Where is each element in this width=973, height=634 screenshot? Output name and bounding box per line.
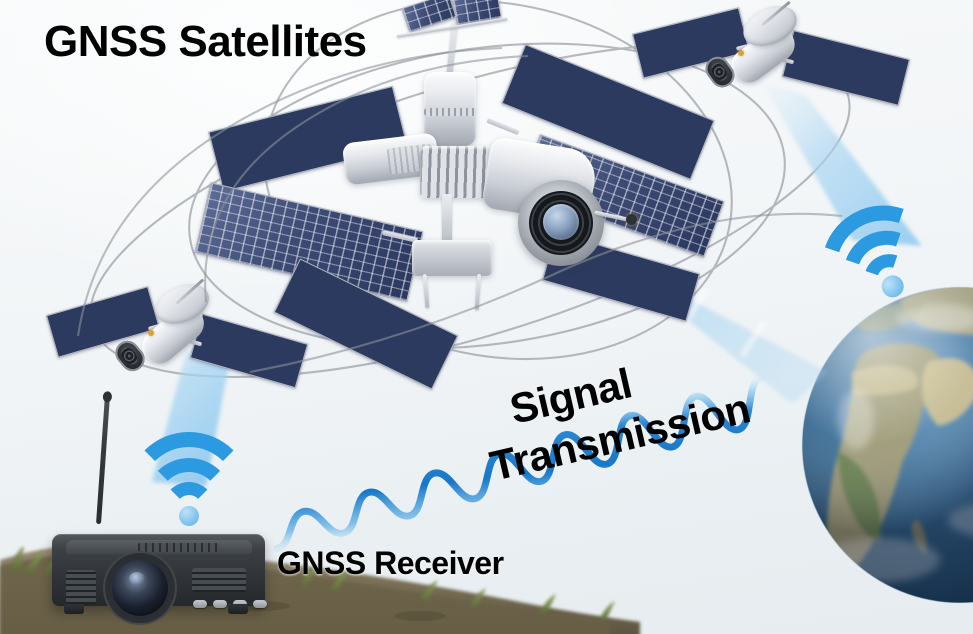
receiver-button-2[interactable] [213, 600, 227, 608]
receiver-top-panel [66, 540, 252, 554]
receiver-vent-left [66, 570, 96, 604]
receiver-foot-left [64, 604, 84, 614]
receiver-body [52, 534, 265, 606]
receiver-label: GNSS Receiver [277, 547, 504, 579]
receiver-vent-right [192, 568, 246, 592]
receiver-button-1[interactable] [193, 600, 207, 608]
gnss-receiver-device[interactable] [52, 520, 272, 612]
wifi-signal-receiver [126, 432, 252, 528]
receiver-top-vent [138, 543, 218, 552]
receiver-button-4[interactable] [253, 600, 267, 608]
receiver-foot-right [228, 604, 248, 614]
receiver-lens [112, 560, 168, 616]
page-title: GNSS Satellites [44, 20, 367, 64]
gnss-diagram-scene: GNSS Satellites GNSS Receiver Signal Tra… [0, 0, 973, 634]
